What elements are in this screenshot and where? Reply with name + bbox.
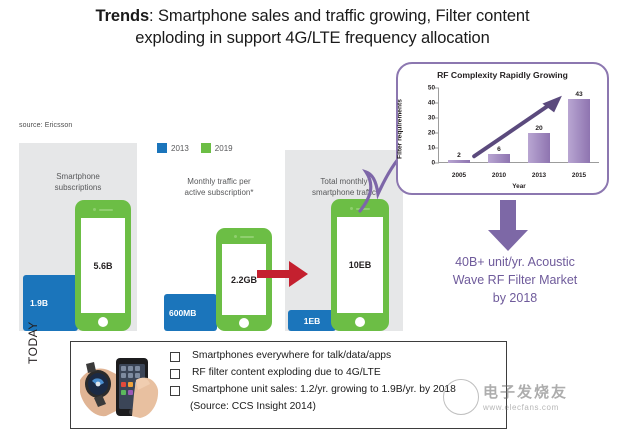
market-line-3: by 2018 [493, 291, 537, 305]
checkbox-icon[interactable] [170, 386, 180, 396]
caption-subscriptions: Smartphone subscriptions [13, 172, 143, 194]
chart-bar-value: 2 [457, 152, 461, 159]
smartphone-smartwatch-photo [76, 346, 160, 424]
caption-line1: Smartphone [56, 172, 100, 181]
chart-title: RF Complexity Rapidly Growing [398, 70, 607, 80]
phone-screen-value: 10EB [337, 217, 383, 313]
phone-home-button-icon [98, 317, 108, 327]
red-growth-arrow-icon [257, 259, 309, 289]
slide-canvas: Trends: Smartphone sales and traffic gro… [0, 0, 625, 433]
bullet-text: Smartphone unit sales: 1.2/yr. growing t… [192, 383, 456, 398]
checkbox-icon[interactable] [170, 369, 180, 379]
page-title-line2: exploding in support 4G/LTE frequency al… [135, 29, 489, 47]
chart-x-axis-label: Year [439, 183, 599, 190]
chart-x-tick: 2013 [519, 172, 559, 179]
chart-bar-value: 43 [575, 91, 582, 98]
today-label: TODAY [26, 321, 40, 364]
market-line-2: Wave RF Filter Market [453, 273, 578, 287]
chart-bar [448, 160, 470, 163]
chart-bar [528, 133, 550, 163]
bullet-text: RF filter content exploding due to 4G/LT… [192, 366, 381, 381]
bar-2013-monthly-traffic: 600MB [164, 294, 217, 331]
chart-y-tick: 20 [428, 130, 435, 137]
chart-bar-value: 6 [497, 146, 501, 153]
chart-x-tick: 2005 [439, 172, 479, 179]
phone-2019-subscriptions: 5.6B [75, 200, 131, 331]
chart-bar-value: 20 [535, 125, 542, 132]
phone-camera-icon [234, 235, 237, 238]
legend-item-2019: 2019 [201, 143, 233, 153]
chart-bar [488, 154, 510, 163]
chart-x-tick: 2010 [479, 172, 519, 179]
phone-speaker-icon [240, 236, 254, 238]
source-ericsson-label: source: Ericsson [19, 122, 72, 129]
watermark-url-text: www.elecfans.com [483, 403, 623, 412]
caption-monthly-traffic: Monthly traffic per active subscription* [154, 177, 284, 199]
market-line-1: 40B+ unit/yr. Acoustic [455, 255, 575, 269]
watermark-circle-icon [443, 379, 479, 415]
phone-home-button-icon [355, 317, 365, 327]
chart-bar-cell: 20 [519, 88, 559, 163]
page-title-line1: : Smartphone sales and traffic growing, … [149, 7, 529, 25]
watermark: 电子发烧友 www.elecfans.com [483, 381, 623, 425]
rf-complexity-chart: RF Complexity Rapidly Growing Filter req… [396, 62, 609, 195]
legend-swatch-2019 [201, 143, 211, 153]
chart-y-tick: 10 [428, 145, 435, 152]
legend-label-2013: 2013 [171, 144, 189, 153]
phone-2019-total-traffic: 10EB [331, 199, 389, 331]
chart-bar-cell: 6 [479, 88, 519, 163]
chart-bars: 262043 [439, 88, 599, 163]
page-title-lead: Trends [96, 7, 150, 25]
chart-plot-area: 01020304050 262043 [439, 88, 599, 163]
checkbox-icon[interactable] [170, 352, 180, 362]
watermark-cn-text: 电子发烧友 [483, 381, 623, 402]
market-forecast-text: 40B+ unit/yr. Acoustic Wave RF Filter Ma… [425, 253, 605, 307]
ericsson-legend: 2013 2019 [157, 143, 233, 153]
legend-swatch-2013 [157, 143, 167, 153]
bullet-row: RF filter content exploding due to 4G/LT… [170, 366, 500, 381]
chart-x-tick: 2015 [559, 172, 599, 179]
bullet-text: Smartphones everywhere for talk/data/app… [192, 349, 391, 364]
chart-y-tick: 30 [428, 115, 435, 122]
chart-y-tick: 40 [428, 100, 435, 107]
purple-down-arrow-icon [487, 200, 529, 252]
chart-y-axis-label: Filter requirements [396, 99, 403, 159]
caption-line2: active subscription* [185, 188, 254, 197]
caption-line1: Monthly traffic per [187, 177, 250, 186]
legend-label-2019: 2019 [215, 144, 233, 153]
chart-bar-cell: 2 [439, 88, 479, 163]
chart-bar [568, 99, 590, 164]
legend-item-2013: 2013 [157, 143, 189, 153]
phone-speaker-icon [99, 209, 113, 211]
bullet-row: Smartphones everywhere for talk/data/app… [170, 349, 500, 364]
phone-screen-value: 5.6B [81, 218, 125, 313]
caption-line2: subscriptions [55, 183, 102, 192]
phone-camera-icon [93, 208, 96, 211]
phone-home-button-icon [239, 318, 249, 328]
page-title: Trends: Smartphone sales and traffic gro… [40, 6, 585, 50]
bar-2013-total-traffic: 1EB [288, 310, 336, 331]
chart-y-tick: 50 [428, 85, 435, 92]
chart-x-ticks: 2005201020132015 [439, 172, 599, 179]
chart-bar-cell: 43 [559, 88, 599, 163]
